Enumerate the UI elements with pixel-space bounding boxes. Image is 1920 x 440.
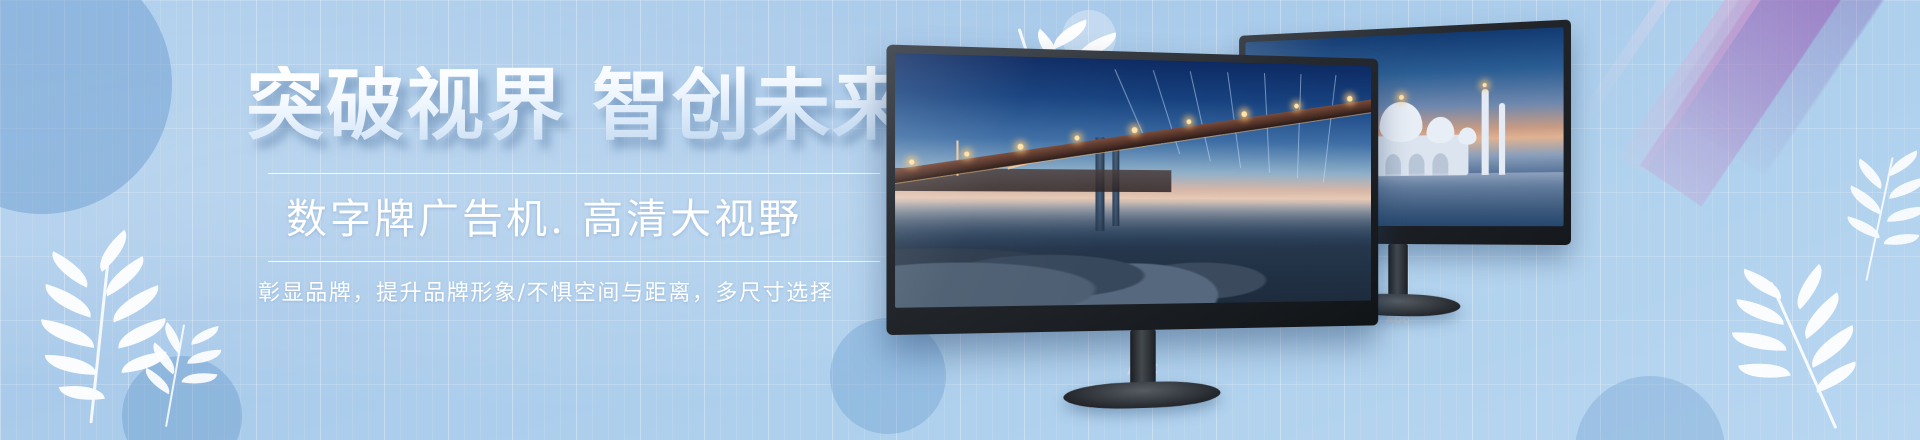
monitor-bezel xyxy=(886,45,1378,336)
tagline: 彰显品牌，提升品牌形象/不惧空间与距离，多尺寸选择 xyxy=(258,275,906,307)
monitor-neck xyxy=(1130,330,1156,389)
monitor-screen-left xyxy=(895,53,1371,308)
promo-banner: 突破视界智创未来 数字牌广告机. 高清大视野 彰显品牌，提升品牌形象/不惧空间与… xyxy=(0,0,1920,440)
monitor-neck xyxy=(1388,244,1407,300)
circle-decoration-icon xyxy=(1575,376,1725,440)
page-title: 突破视界智创未来 xyxy=(246,66,906,147)
circle-decoration-icon xyxy=(0,0,172,214)
headline-part-2: 智创未来 xyxy=(592,61,912,151)
headline-part-1: 突破视界 xyxy=(246,61,566,151)
subtitle: 数字牌广告机. 高清大视野 xyxy=(286,185,906,245)
leaf-sprig-icon xyxy=(1830,144,1920,306)
divider-lower xyxy=(268,261,880,262)
monitor-base xyxy=(1063,380,1220,411)
divider-upper xyxy=(268,173,880,174)
headline-block: 突破视界智创未来 数字牌广告机. 高清大视野 彰显品牌，提升品牌形象/不惧空间与… xyxy=(246,66,906,307)
product-monitor-left: AOC xyxy=(886,45,1378,390)
screen-rocks xyxy=(895,201,1371,308)
brand-logo-right: AOC xyxy=(1386,315,1410,327)
